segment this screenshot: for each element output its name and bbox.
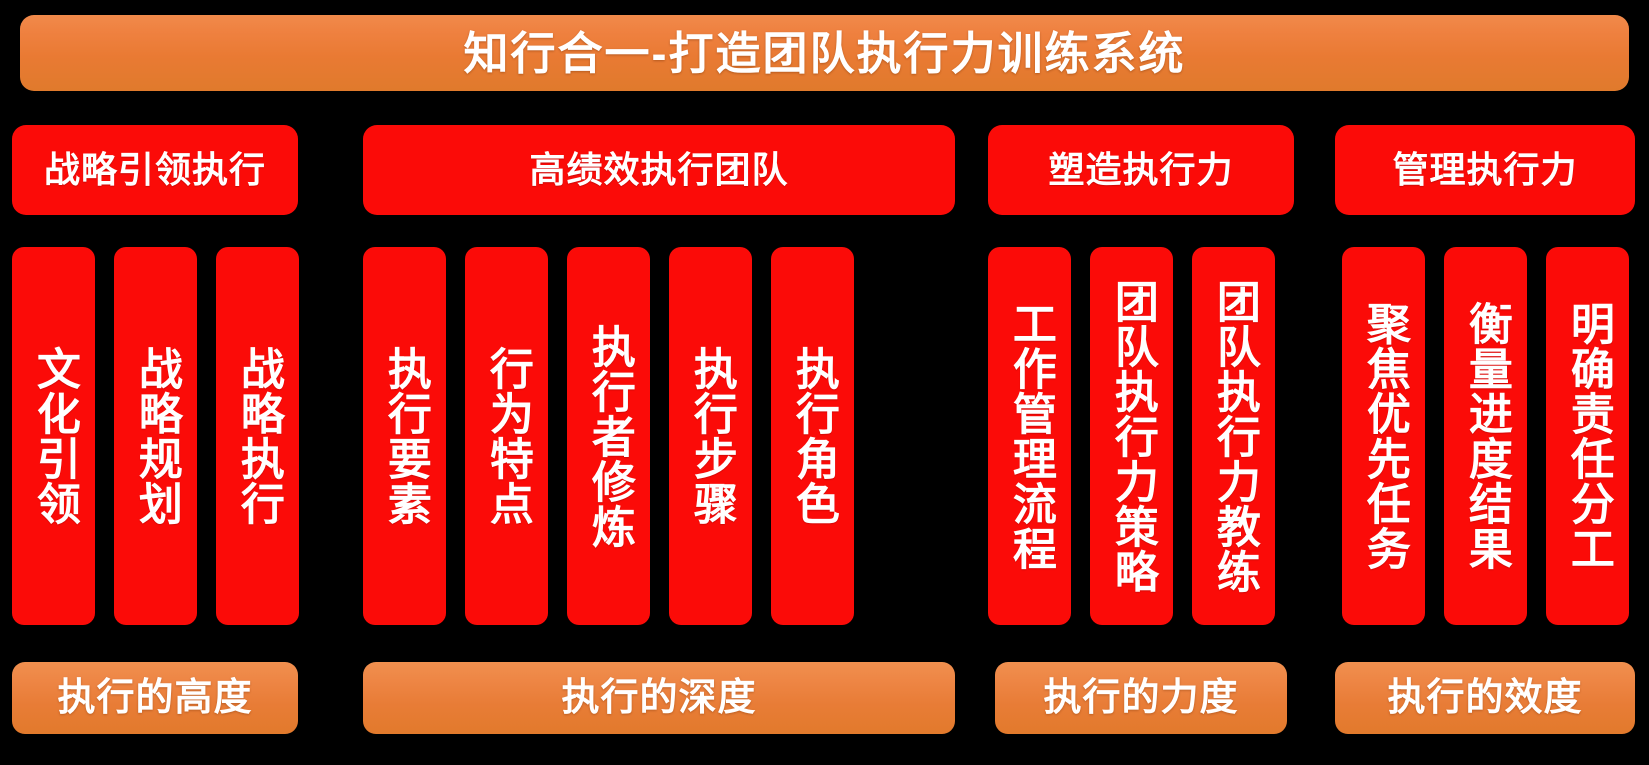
item-column[interactable]: 行为特点 xyxy=(465,247,548,625)
group-1-footer-label: 执行的高度 xyxy=(57,679,252,717)
item-label: 明确责任分工 xyxy=(1564,301,1611,571)
group-2-footer-label: 执行的深度 xyxy=(561,679,756,717)
group-4: 管理执行力 聚焦优先任务 衡量进度结果 明确责任分工 执行的效度 xyxy=(1335,0,1635,765)
item-column[interactable]: 团队执行力策略 xyxy=(1090,247,1173,625)
item-label: 衡量进度结果 xyxy=(1462,301,1509,571)
group-2: 高绩效执行团队 执行要素 行为特点 执行者修炼 执行步骤 执行角色 执行的深度 xyxy=(363,0,955,765)
item-label: 执行角色 xyxy=(789,346,836,526)
item-column[interactable]: 团队执行力教练 xyxy=(1192,247,1275,625)
item-label: 战略规划 xyxy=(132,346,179,526)
item-column[interactable]: 工作管理流程 xyxy=(988,247,1071,625)
item-label: 工作管理流程 xyxy=(1006,301,1053,571)
item-column[interactable]: 聚焦优先任务 xyxy=(1342,247,1425,625)
item-label: 文化引领 xyxy=(30,346,77,526)
group-1-header[interactable]: 战略引领执行 xyxy=(12,125,298,215)
item-column[interactable]: 执行步骤 xyxy=(669,247,752,625)
item-column[interactable]: 明确责任分工 xyxy=(1546,247,1629,625)
item-column[interactable]: 战略规划 xyxy=(114,247,197,625)
group-2-header[interactable]: 高绩效执行团队 xyxy=(363,125,955,215)
group-2-footer[interactable]: 执行的深度 xyxy=(363,662,955,734)
group-2-columns: 执行要素 行为特点 执行者修炼 执行步骤 执行角色 xyxy=(363,247,854,625)
group-3-columns: 工作管理流程 团队执行力策略 团队执行力教练 xyxy=(988,247,1275,625)
item-label: 执行者修炼 xyxy=(585,324,632,549)
item-column[interactable]: 文化引领 xyxy=(12,247,95,625)
group-3-footer-label: 执行的力度 xyxy=(1043,679,1238,717)
group-1-header-label: 战略引领执行 xyxy=(44,152,266,188)
group-4-columns: 聚焦优先任务 衡量进度结果 明确责任分工 xyxy=(1342,247,1629,625)
item-label: 团队执行力教练 xyxy=(1210,279,1257,594)
item-label: 执行要素 xyxy=(381,346,428,526)
group-1-footer[interactable]: 执行的高度 xyxy=(12,662,298,734)
item-column[interactable]: 战略执行 xyxy=(216,247,299,625)
diagram-canvas: 知行合一-打造团队执行力训练系统 战略引领执行 文化引领 战略规划 战略执行 执… xyxy=(0,0,1649,765)
item-label: 战略执行 xyxy=(234,346,281,526)
group-1-columns: 文化引领 战略规划 战略执行 xyxy=(12,247,299,625)
group-4-header-label: 管理执行力 xyxy=(1392,152,1577,188)
item-label: 行为特点 xyxy=(483,346,530,526)
group-3: 塑造执行力 工作管理流程 团队执行力策略 团队执行力教练 执行的力度 xyxy=(945,0,1231,765)
item-column[interactable]: 执行者修炼 xyxy=(567,247,650,625)
item-label: 聚焦优先任务 xyxy=(1360,301,1407,571)
item-column[interactable]: 衡量进度结果 xyxy=(1444,247,1527,625)
item-column[interactable]: 执行角色 xyxy=(771,247,854,625)
group-3-header[interactable]: 塑造执行力 xyxy=(988,125,1294,215)
group-4-header[interactable]: 管理执行力 xyxy=(1335,125,1635,215)
group-4-footer-label: 执行的效度 xyxy=(1387,679,1582,717)
group-3-footer[interactable]: 执行的力度 xyxy=(995,662,1287,734)
group-2-header-label: 高绩效执行团队 xyxy=(529,152,788,188)
item-column[interactable]: 执行要素 xyxy=(363,247,446,625)
group-3-header-label: 塑造执行力 xyxy=(1048,152,1233,188)
group-1: 战略引领执行 文化引领 战略规划 战略执行 执行的高度 xyxy=(12,0,298,765)
item-label: 团队执行力策略 xyxy=(1108,279,1155,594)
item-label: 执行步骤 xyxy=(687,346,734,526)
group-4-footer[interactable]: 执行的效度 xyxy=(1335,662,1635,734)
